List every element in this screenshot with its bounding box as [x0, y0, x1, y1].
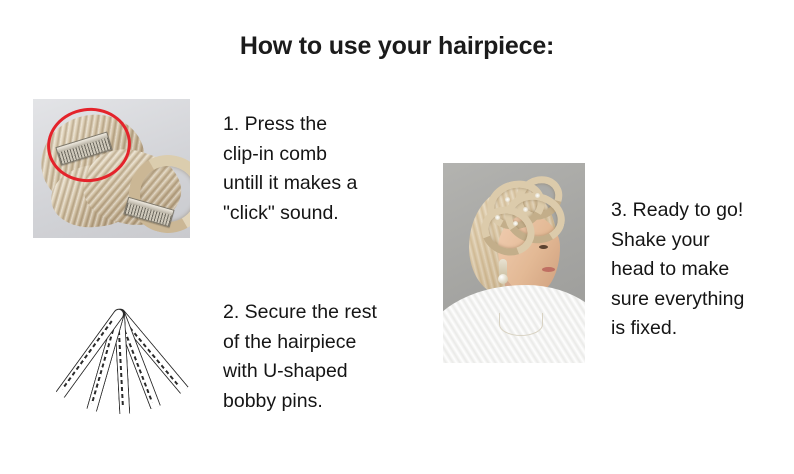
model-lips [542, 267, 555, 272]
sparkle-icon [495, 215, 500, 220]
model-necklace [499, 313, 543, 336]
model-eye [539, 245, 548, 249]
step-1-text: 1. Press the clip-in comb untill it make… [223, 110, 428, 228]
model-earring [499, 259, 507, 279]
sparkle-icon [535, 193, 540, 198]
sparkle-icon [505, 197, 510, 202]
step-2-text: 2. Secure the rest of the hairpiece with… [223, 298, 423, 416]
sparkle-icon [523, 207, 528, 212]
step-3-text: 3. Ready to go! Shake your head to make … [611, 196, 786, 344]
sparkle-icon [513, 221, 518, 226]
bobby-pins-illustration [34, 303, 194, 425]
hairpiece-with-clip-photo [33, 99, 190, 238]
instruction-graphic: How to use your hairpiece: 1. Press the … [0, 0, 794, 474]
model-wearing-hairpiece-photo [443, 163, 585, 363]
page-title: How to use your hairpiece: [0, 32, 794, 61]
